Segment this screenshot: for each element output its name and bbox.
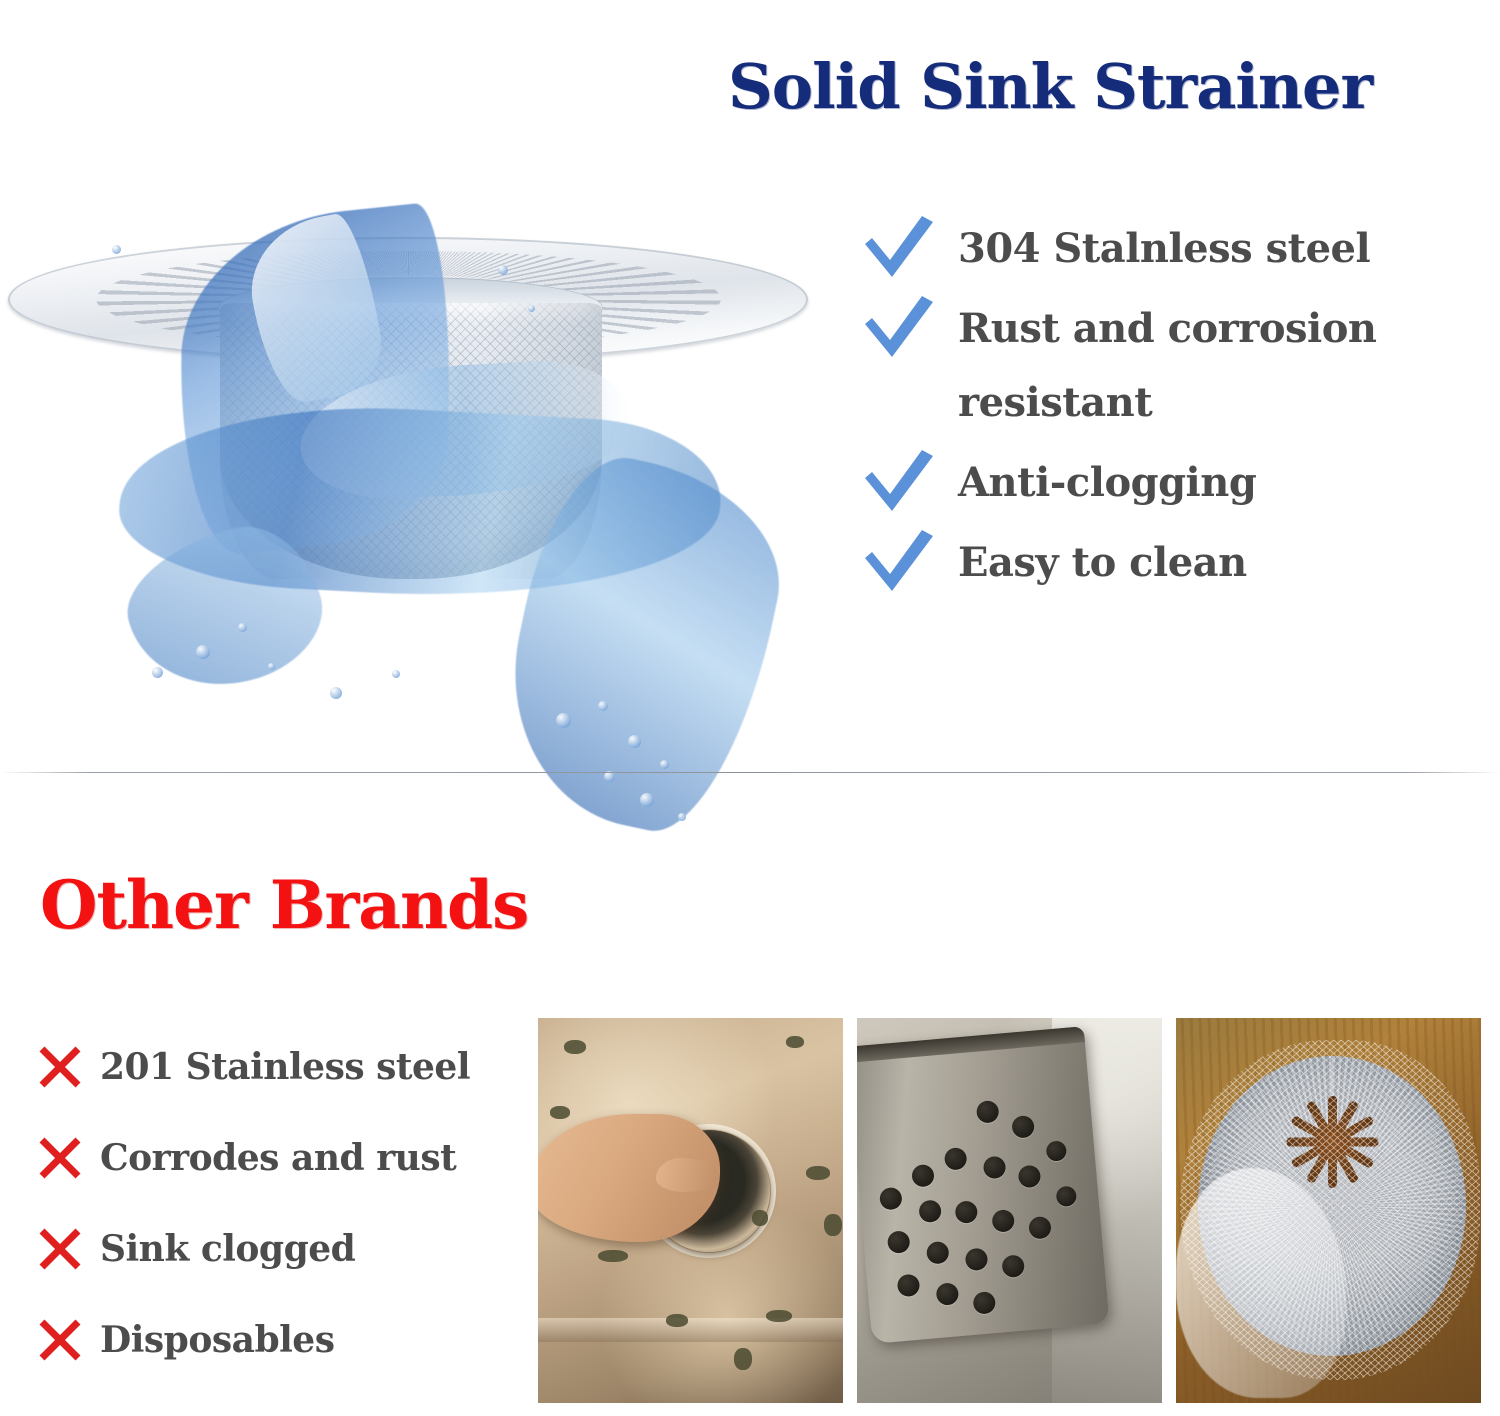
water-droplet [556, 713, 571, 728]
x-icon [38, 1318, 100, 1362]
competitor-photo-strip [538, 1018, 1482, 1403]
drawback-item: Sink clogged [38, 1203, 538, 1294]
hero-product-image [0, 0, 840, 773]
competitor-photo-clogged-sink [538, 1018, 843, 1403]
cup-hole [1046, 1140, 1068, 1162]
basket-shading-right [482, 303, 602, 579]
feature-label: Rust and corrosion resistant [958, 292, 1376, 440]
food-debris [752, 1210, 768, 1226]
drawback-item: Corrodes and rust [38, 1112, 538, 1203]
competitor-photo-dirty-strainer-cup [857, 1018, 1162, 1403]
water-droplet [268, 663, 275, 670]
check-icon [862, 526, 958, 592]
basket-shading-left [220, 303, 340, 579]
product-section: Solid Sink Strainer 304 Stalnless steel … [0, 0, 1500, 773]
food-debris [824, 1214, 842, 1236]
x-icon [38, 1045, 100, 1089]
cup-rim [857, 1026, 1085, 1063]
food-debris [734, 1348, 752, 1370]
drawback-label: 201 Stainless steel [100, 1046, 470, 1088]
cup-hole [887, 1230, 911, 1254]
strainer-illustration [0, 215, 820, 635]
competitor-drawback-list: 201 Stainless steel Corrodes and rust Si… [38, 1021, 538, 1385]
water-droplet [330, 687, 342, 699]
water-droplet [628, 735, 641, 748]
cup-hole [911, 1164, 935, 1188]
check-icon [862, 212, 958, 278]
product-comparison-infographic: Solid Sink Strainer 304 Stalnless steel … [0, 0, 1500, 1416]
water-droplet [238, 623, 247, 632]
cup-hole [879, 1187, 903, 1211]
cup-hole [976, 1100, 1000, 1124]
drawback-item: 201 Stainless steel [38, 1021, 538, 1112]
drawback-item: Disposables [38, 1294, 538, 1385]
x-icon [38, 1227, 100, 1271]
water-droplet [598, 701, 608, 711]
water-droplet [660, 760, 669, 769]
feature-label: Anti-clogging [958, 446, 1256, 520]
cup-hole [1055, 1186, 1077, 1208]
competitor-heading: Other Brands [40, 866, 528, 944]
drawback-label: Corrodes and rust [100, 1137, 456, 1179]
cup-hole [965, 1247, 989, 1271]
feature-item: Anti-clogging [862, 446, 1482, 520]
water-droplet [498, 265, 508, 275]
cup-hole [935, 1282, 959, 1306]
competitor-photo-rusted-strainer-with-net [1176, 1018, 1481, 1403]
food-debris [564, 1040, 586, 1054]
cup-hole [972, 1291, 996, 1315]
cup-hole [983, 1156, 1007, 1180]
food-debris [766, 1310, 792, 1322]
x-icon [38, 1136, 100, 1180]
drawback-label: Sink clogged [100, 1228, 355, 1270]
feature-label: 304 Stalnless steel [958, 212, 1370, 286]
cup-hole [1001, 1254, 1025, 1278]
water-droplet [528, 305, 535, 312]
food-debris [598, 1250, 628, 1262]
water-droplet [112, 245, 121, 254]
feature-item: 304 Stalnless steel [862, 212, 1482, 286]
feature-list: 304 Stalnless steel Rust and corrosion r… [862, 212, 1482, 606]
cup-hole [1018, 1165, 1042, 1189]
water-droplet [392, 670, 400, 678]
cup-hole [991, 1209, 1015, 1233]
cup-hole [1011, 1115, 1035, 1139]
competitor-section: Other Brands 201 Stainless steel Corrode… [0, 773, 1500, 1416]
water-droplet [152, 667, 163, 678]
feature-item: Easy to clean [862, 526, 1482, 600]
food-debris [550, 1106, 570, 1119]
feature-label: Easy to clean [958, 526, 1247, 600]
food-debris [786, 1036, 804, 1048]
cup-hole [1028, 1216, 1052, 1240]
cup-hole [918, 1199, 942, 1223]
cup-hole [897, 1274, 921, 1298]
check-icon [862, 292, 958, 358]
page-title: Solid Sink Strainer [728, 50, 1488, 123]
feature-item: Rust and corrosion resistant [862, 292, 1482, 440]
perforated-strainer-cup [857, 1026, 1110, 1344]
water-droplet [196, 645, 210, 659]
cup-hole [944, 1147, 968, 1171]
check-icon [862, 446, 958, 512]
food-debris [666, 1314, 688, 1327]
cup-hole [926, 1241, 950, 1265]
cup-hole [954, 1200, 978, 1224]
drawback-label: Disposables [100, 1319, 334, 1361]
food-debris [806, 1166, 830, 1180]
sink-basin-edge [538, 1318, 843, 1342]
